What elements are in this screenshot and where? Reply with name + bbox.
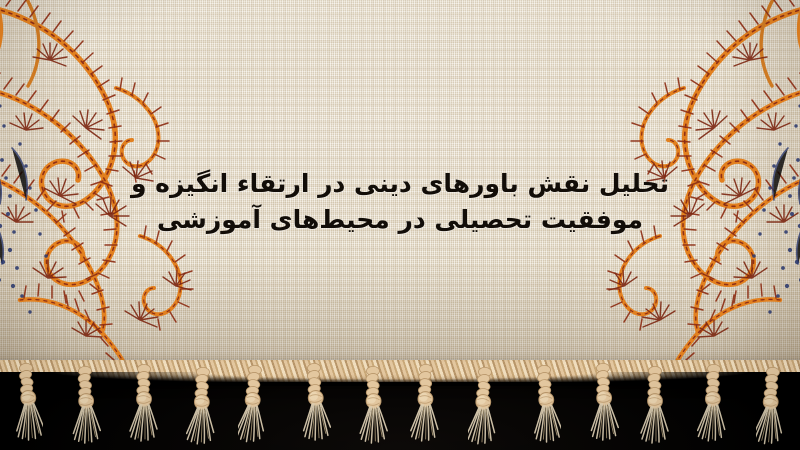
tassel xyxy=(127,363,161,449)
paisley-embroidery-left-icon xyxy=(0,0,290,372)
title-card-canvas: تحلیل نقش باورهای دینی در ارتقاء انگیزه … xyxy=(0,0,800,450)
tassel xyxy=(586,362,620,448)
tassel xyxy=(68,365,102,450)
tassel xyxy=(527,364,561,450)
tassel-fringe xyxy=(0,364,800,450)
tassel xyxy=(409,363,443,449)
tassel xyxy=(238,364,272,450)
paisley-embroidery-right-icon xyxy=(510,0,800,372)
tassel xyxy=(9,362,43,448)
tassel xyxy=(297,362,331,448)
tassel xyxy=(638,365,672,450)
tassel xyxy=(356,365,390,450)
tassel xyxy=(756,366,790,450)
tassel xyxy=(697,363,731,449)
tassel xyxy=(468,366,502,450)
tassel xyxy=(186,366,220,450)
